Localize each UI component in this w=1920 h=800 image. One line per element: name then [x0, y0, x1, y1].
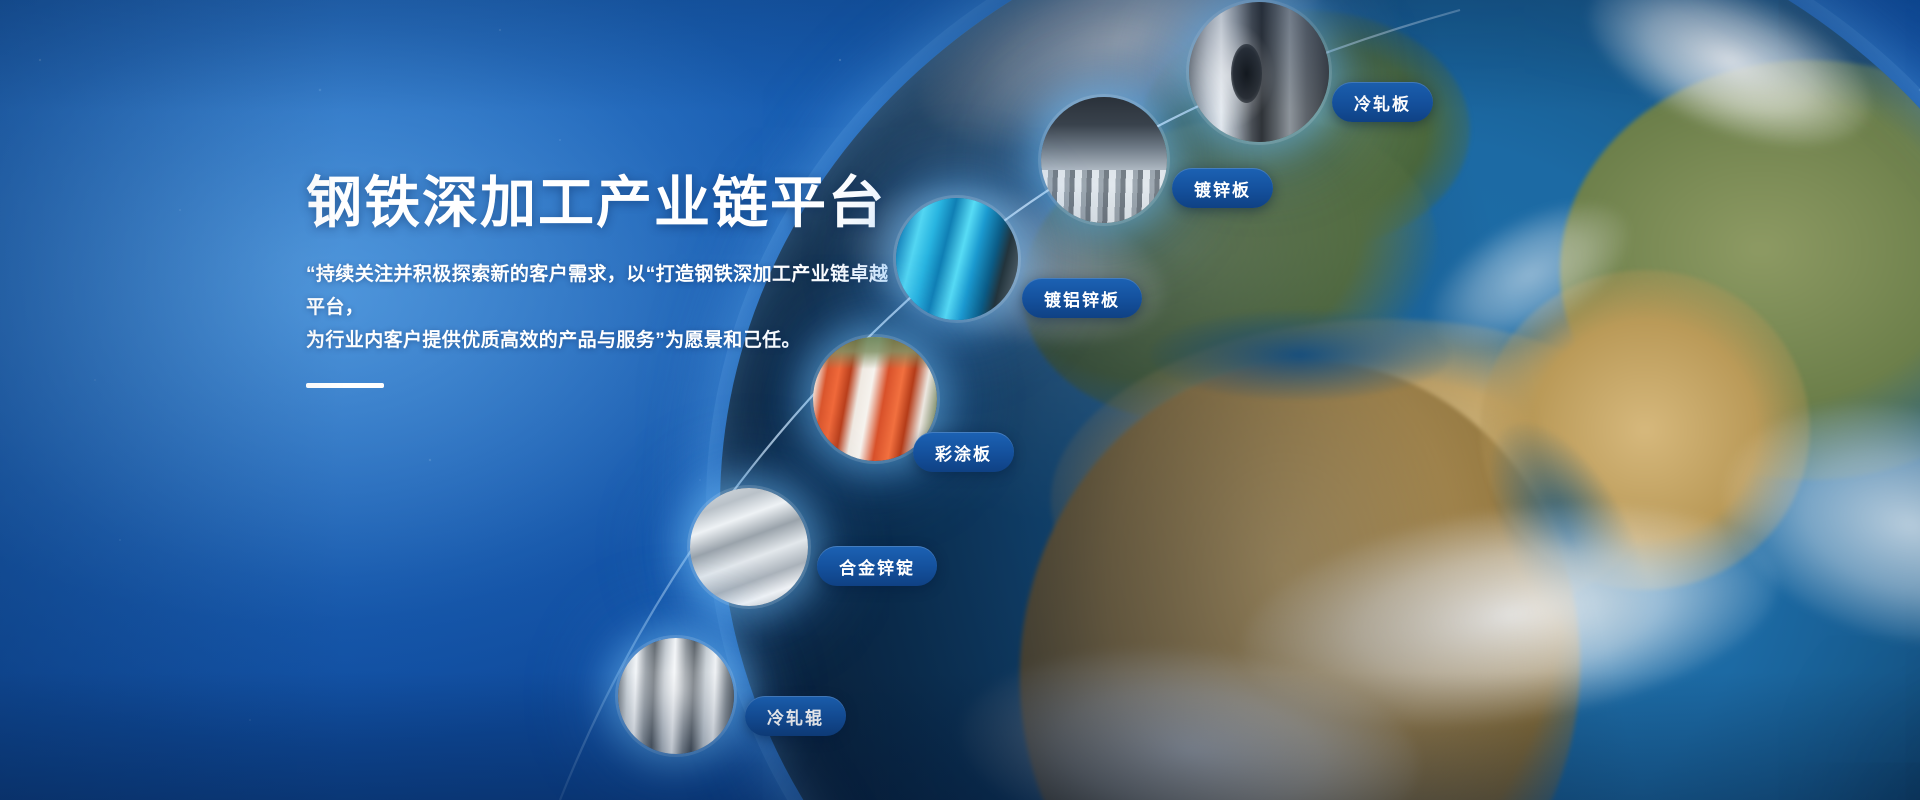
thumb-aluzinc-sheet[interactable]: [896, 198, 1018, 320]
steel-coils-warehouse-photo: [1189, 2, 1329, 142]
tag-cold-rolling-roll[interactable]: 冷轧辊: [745, 696, 846, 736]
landmass-asia: [1560, 60, 1920, 480]
thumb-zinc-alloy-ingot[interactable]: [690, 488, 808, 606]
thumb-galvanized-sheet[interactable]: [1041, 97, 1167, 223]
cloud-band-5: [952, 630, 1428, 800]
galvanized-coil-hall-photo: [1041, 97, 1167, 223]
tag-cold-rolled-sheet[interactable]: 冷轧板: [1332, 82, 1433, 122]
page-title: 钢铁深加工产业链平台: [306, 172, 946, 234]
connector-arc-line: [0, 0, 1920, 800]
edge-vignette: [0, 0, 1920, 800]
stacked-zinc-ingots-photo: [690, 488, 808, 606]
landmass-sahara: [1039, 299, 1681, 671]
subtitle-line-2: 为行业内客户提供优质高效的产品与服务”为愿景和己任。: [306, 330, 801, 351]
cloud-band-6: [1407, 172, 1653, 377]
background-haze: [0, 0, 1920, 800]
sea-red-sea: [1456, 397, 1684, 683]
thumb-cold-rolled-sheet[interactable]: [1189, 2, 1329, 142]
cloud-band-3: [1228, 473, 1792, 756]
landmass-africa: [989, 332, 1611, 800]
landmass-arabia: [1480, 270, 1810, 590]
tag-zinc-alloy-ingot[interactable]: 合金锌锭: [817, 546, 937, 586]
cloud-band-4: [1565, 0, 1896, 181]
subtitle-line-1: “持续关注并积极探索新的客户需求，以“打造钢铁深加工产业链卓越平台，: [306, 264, 888, 318]
star-speckle-background: [0, 0, 1920, 800]
thumb-cold-rolling-roll[interactable]: [618, 638, 734, 754]
cloud-band-7: [1698, 367, 1920, 682]
aluzinc-blue-sheets-photo: [896, 198, 1018, 320]
title-underline-rule: [306, 383, 384, 388]
hero-banner: 钢铁深加工产业链平台 “持续关注并积极探索新的客户需求，以“打造钢铁深加工产业链…: [0, 0, 1920, 800]
tag-galvanized-sheet[interactable]: 镀锌板: [1172, 168, 1273, 208]
polished-steel-rolls-photo: [618, 638, 734, 754]
tag-aluzinc-sheet[interactable]: 镀铝锌板: [1022, 278, 1142, 318]
sea-mediterranean: [1150, 310, 1450, 400]
tag-color-coated-sheet[interactable]: 彩涂板: [913, 432, 1014, 472]
